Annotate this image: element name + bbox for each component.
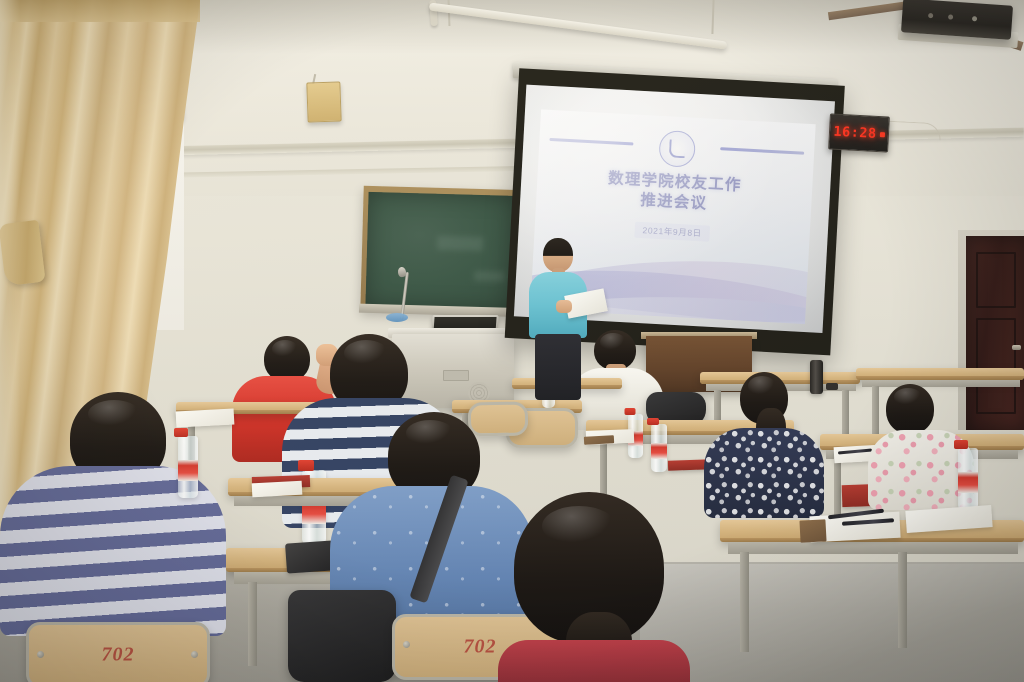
- chair[interactable]: 702: [26, 622, 210, 682]
- door-handle[interactable]: [1012, 345, 1021, 350]
- paper-stack: [176, 408, 235, 427]
- slide-date-wrap: 2021年9月8日: [534, 214, 810, 247]
- desk-apron: [862, 380, 1020, 387]
- digital-clock: 16:28: [828, 113, 890, 152]
- microphone-base: [386, 313, 408, 322]
- desk-leg: [248, 582, 257, 666]
- projector-led-icon: [928, 13, 933, 18]
- clock-time: 16:28: [833, 124, 877, 142]
- floor-reflection: [640, 564, 1024, 682]
- chalk-smudge: [474, 271, 504, 282]
- clock-indicator-icon: [879, 132, 884, 137]
- projector-led-icon: [972, 16, 977, 21]
- chalkboard: [360, 186, 528, 316]
- bottle-cap: [298, 460, 314, 471]
- curtain-tieback: [0, 220, 46, 286]
- chair[interactable]: [468, 401, 529, 436]
- door-panel: [976, 252, 1016, 308]
- thermos-lid: [826, 383, 838, 390]
- desk-leg: [740, 552, 749, 652]
- water-bottle: [651, 424, 667, 472]
- chair-number: [471, 419, 525, 420]
- door-panel: [976, 318, 1016, 414]
- desk-leg: [842, 390, 849, 440]
- water-bottle: [178, 436, 198, 498]
- chalkboard-surface: [365, 192, 523, 311]
- curtain-header: [0, 0, 200, 22]
- water-bottle: [958, 448, 978, 510]
- head: [886, 384, 934, 434]
- wall-mounted-box: [306, 81, 341, 122]
- hand: [556, 300, 572, 313]
- lectern-panel: [443, 370, 469, 381]
- trousers: [535, 334, 581, 400]
- slide-title: 数理学院校友工作 推进会议: [536, 165, 813, 220]
- desk-apron: [728, 542, 1018, 554]
- classroom-door[interactable]: [966, 236, 1024, 430]
- desk-leg: [872, 386, 879, 440]
- shoulder-bag: [288, 590, 396, 682]
- notebook-cover: [799, 519, 826, 542]
- desk: [856, 368, 1024, 380]
- bottle-cap: [647, 418, 659, 425]
- classroom-photo: 数理学院校友工作 推进会议 2021年9月8日 16:28: [0, 0, 1024, 682]
- slide-rule-left: [549, 138, 633, 146]
- projector-led-icon: [948, 14, 953, 19]
- slide-rule-right: [720, 147, 804, 155]
- mobile-phone[interactable]: [285, 540, 335, 573]
- chalk-smudge: [437, 236, 483, 251]
- desk-leg: [898, 552, 907, 648]
- bottle-cap: [625, 408, 636, 415]
- chair-number: 702: [29, 644, 207, 667]
- notebook-cover: [584, 435, 614, 445]
- university-emblem-icon: [658, 130, 696, 168]
- bottle-cap: [174, 428, 188, 437]
- head: [543, 238, 573, 272]
- torso: [498, 640, 690, 682]
- slide-date: 2021年9月8日: [634, 222, 710, 242]
- torso: [704, 428, 824, 518]
- bottle-cap: [954, 440, 968, 449]
- notebook: [252, 481, 303, 498]
- thermos-flask: [810, 360, 823, 394]
